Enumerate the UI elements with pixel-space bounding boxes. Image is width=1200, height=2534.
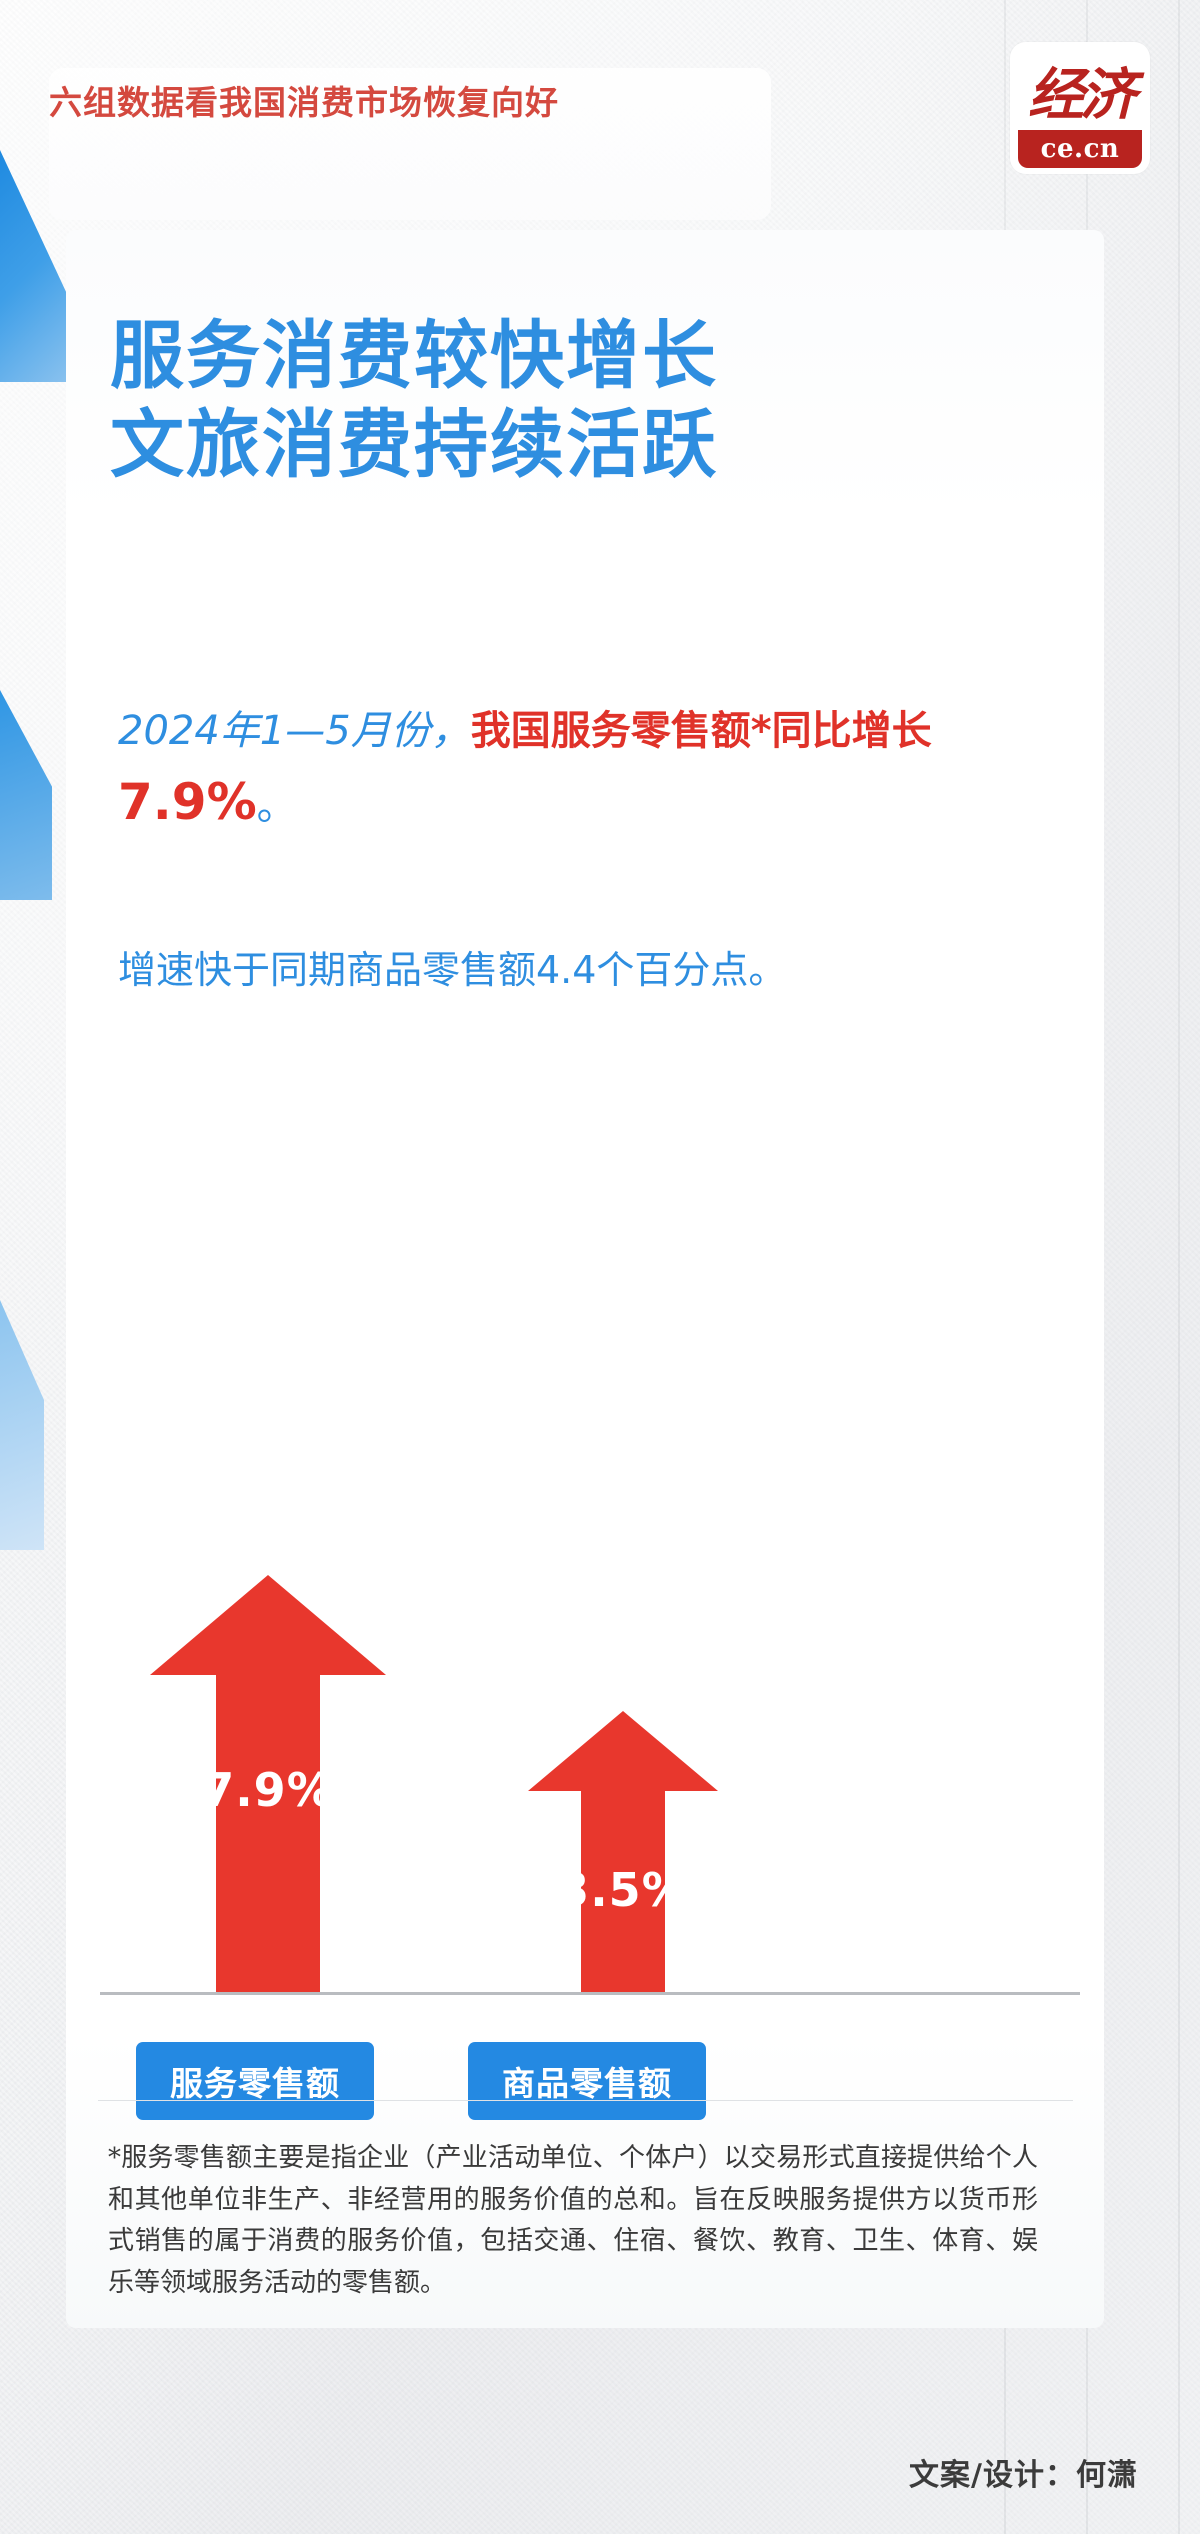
lead-growth-value: 7.9% <box>118 773 257 831</box>
arrow-service-retail: 7.9% <box>150 1575 386 1993</box>
credit-line: 文案/设计：何潇 <box>909 2450 1138 2494</box>
category-label-goods-text: 商品零售额 <box>502 2057 672 2105</box>
lead-date-range: 2024年1—5月份， <box>118 708 471 754</box>
secondary-paragraph: 增速快于同期商品零售额4.4个百分点。 <box>118 940 968 1002</box>
arrow-shaft <box>216 1675 320 1993</box>
value-label-service: 7.9% <box>150 1763 386 1817</box>
logo-domain-text: ce.cn <box>1041 134 1120 164</box>
category-label-service: 服务零售额 <box>136 2042 374 2120</box>
arrow-goods-retail: 3.5% <box>528 1711 718 1993</box>
cecn-logo[interactable]: 经济 ce.cn <box>1010 42 1150 174</box>
arrow-head-icon <box>150 1575 386 1675</box>
lead-period: 。 <box>257 783 297 829</box>
arrow-head-icon <box>528 1711 718 1791</box>
chart-baseline <box>100 1992 1080 1995</box>
lead-paragraph: 2024年1—5月份，我国服务零售额*同比增长7.9%。 <box>118 700 998 842</box>
logo-calligraphy-icon: 经济 <box>1018 48 1142 132</box>
comparison-chart: 7.9% 3.5% 服务零售额 商品零售额 <box>100 1130 1080 2130</box>
value-label-goods: 3.5% <box>528 1863 718 1917</box>
headline-block: 服务消费较快增长 文旅消费持续活跃 <box>110 312 990 490</box>
footnote-divider <box>98 2100 1073 2101</box>
logo-domain-band: ce.cn <box>1018 130 1142 168</box>
texture-seam <box>1178 0 1180 2534</box>
lead-subject: 我国服务零售额* <box>471 708 772 754</box>
headline-line-2: 文旅消费持续活跃 <box>110 401 990 490</box>
footnote-text: *服务零售额主要是指企业（产业活动单位、个体户）以交易形式直接提供给个人和其他单… <box>108 2138 1038 2304</box>
category-label-service-text: 服务零售额 <box>170 2057 340 2105</box>
series-title: 六组数据看我国消费市场恢复向好 <box>49 76 559 124</box>
category-label-goods: 商品零售额 <box>468 2042 706 2120</box>
lead-growth-prefix: 同比增长 <box>772 708 932 754</box>
headline-line-1: 服务消费较快增长 <box>110 312 990 401</box>
